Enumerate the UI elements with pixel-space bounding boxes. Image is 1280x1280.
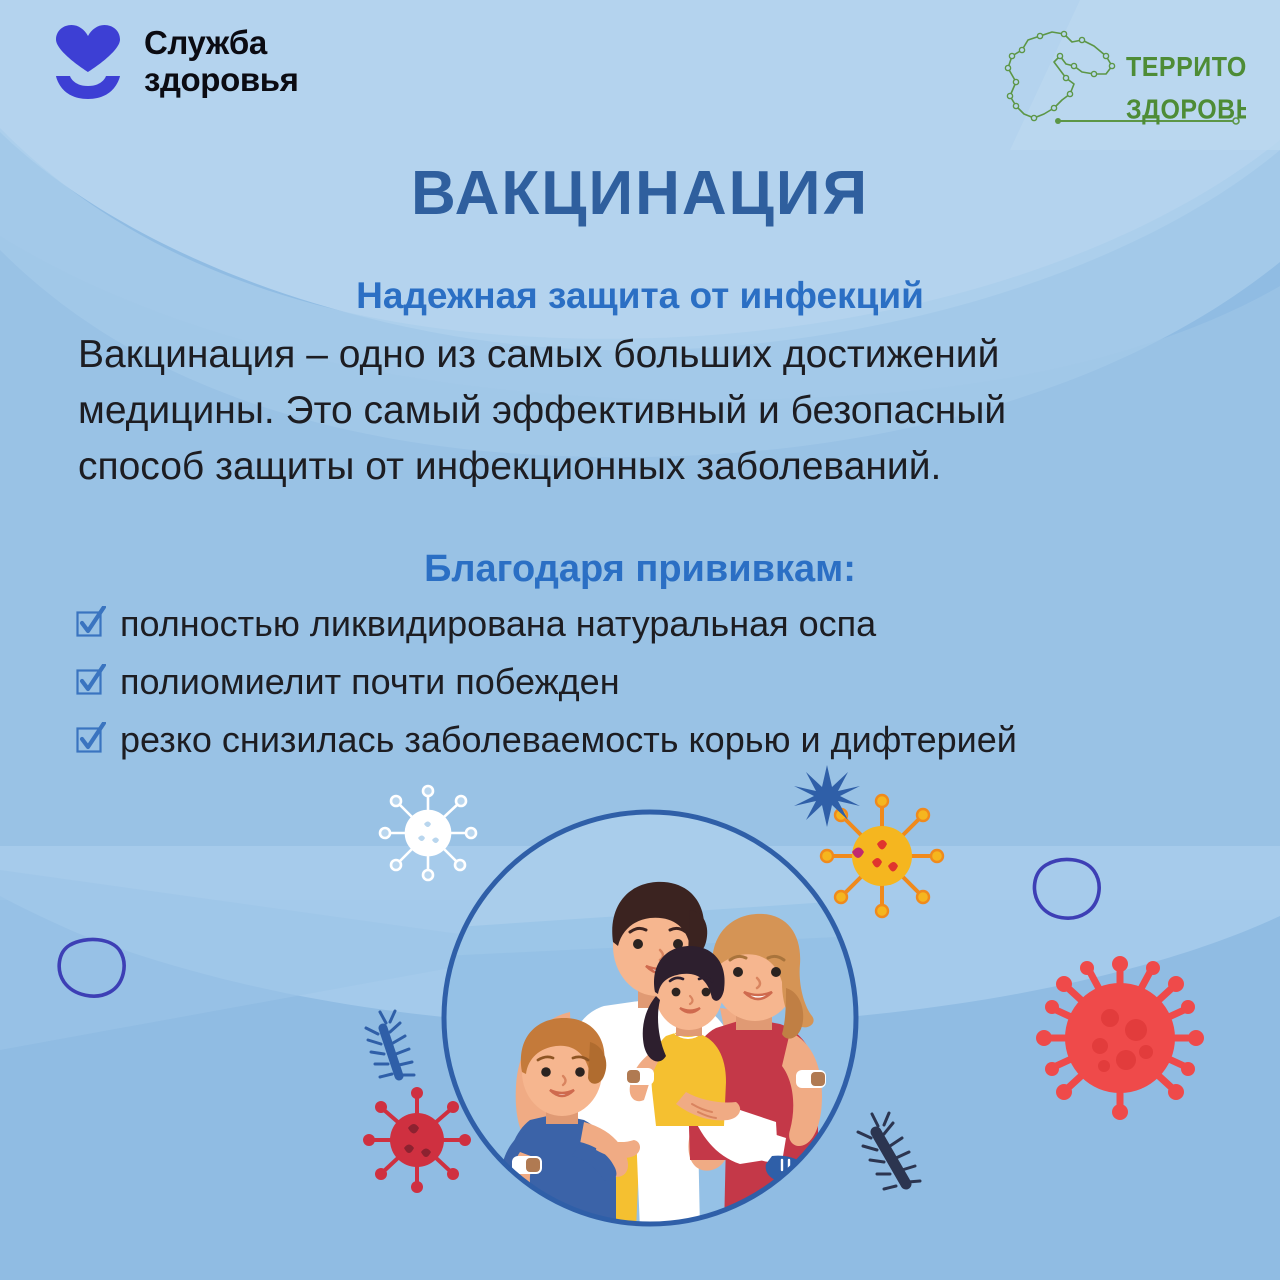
germ-white-virus-icon	[380, 786, 476, 880]
list-item: полностью ликвидирована натуральная оспа	[76, 602, 1216, 646]
territory-line-1: ТЕРРИТОРИЯ	[1126, 50, 1246, 82]
brand-line-1: Служба	[144, 25, 298, 62]
brand-line-2: здоровья	[144, 62, 298, 99]
header: Служба здоровья ТЕРРИТОРИЯ	[0, 0, 1280, 140]
germ-blue-bacteria-icon	[366, 1011, 414, 1077]
list-item-label: полиомиелит почти побежден	[120, 660, 620, 704]
list-item: резко снизилась заболеваемость корью и д…	[76, 718, 1216, 762]
checkbox-checked-icon	[76, 606, 106, 638]
page-subtitle: Надежная защита от инфекций	[0, 275, 1280, 317]
benefits-checklist: полностью ликвидирована натуральная оспа…	[76, 602, 1216, 776]
poster-root: Служба здоровья ТЕРРИТОРИЯ	[0, 0, 1280, 1280]
outline-blob-right	[1034, 859, 1099, 918]
territory-logo[interactable]: ТЕРРИТОРИЯ ЗДОРОВЬЯ	[978, 22, 1246, 138]
territory-line-2: ЗДОРОВЬЯ	[1126, 93, 1246, 125]
brand-name: Служба здоровья	[144, 25, 298, 99]
checkbox-checked-icon	[76, 722, 106, 754]
checkbox-checked-icon	[76, 664, 106, 696]
paragraph-line-2: медицины. Это самый эффективный и безопа…	[78, 383, 1206, 439]
brand-logo[interactable]: Служба здоровья	[52, 24, 298, 100]
germ-yellow-virus-icon	[821, 795, 943, 917]
page-title: ВАКЦИНАЦИЯ	[0, 158, 1280, 229]
heart-smile-icon	[52, 24, 124, 100]
list-item-label: резко снизилась заболеваемость корью и д…	[120, 718, 1017, 762]
outline-blob-left	[59, 939, 124, 996]
list-item-label: полностью ликвидирована натуральная оспа	[120, 602, 876, 646]
body-paragraph: Вакцинация – одно из самых больших дости…	[78, 327, 1206, 495]
family-vaccinated-circle-illustration	[0, 760, 1280, 1280]
list-item: полиомиелит почти побежден	[76, 660, 1216, 704]
paragraph-line-1: Вакцинация – одно из самых больших дости…	[78, 327, 1206, 383]
thanks-heading: Благодаря прививкам:	[0, 548, 1280, 591]
germ-dark-bacteria-icon	[858, 1113, 920, 1189]
germ-red-virus-small-icon	[363, 1087, 471, 1193]
paragraph-line-3: способ защиты от инфекционных заболевани…	[78, 439, 1206, 495]
germ-red-virus-large-icon	[1036, 956, 1204, 1120]
